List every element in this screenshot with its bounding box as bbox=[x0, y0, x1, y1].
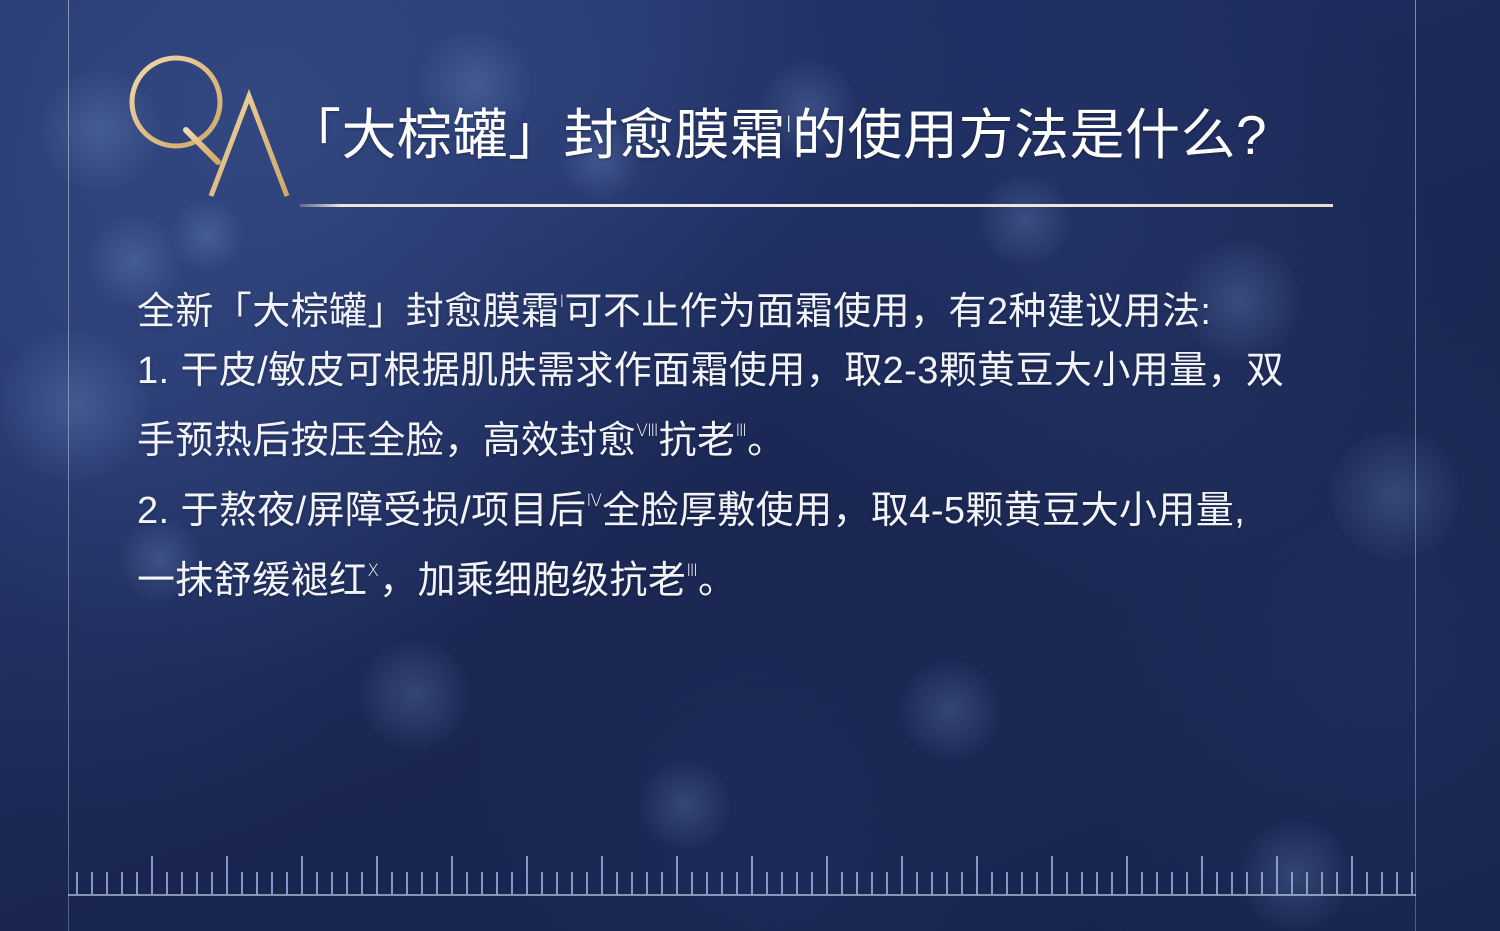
body-line-intro: 全新「大棕罐」封愈膜霜Ⅰ可不止作为面霜使用，有2种建议用法: bbox=[137, 272, 1387, 342]
ruler-tick-minor bbox=[271, 872, 273, 894]
ruler-tick-major bbox=[601, 856, 603, 894]
ruler-tick-minor bbox=[616, 872, 618, 894]
ruler-tick-minor bbox=[436, 872, 438, 894]
ruler-tick-minor bbox=[766, 872, 768, 894]
ruler-tick-minor bbox=[931, 872, 933, 894]
ruler-tick-minor bbox=[871, 872, 873, 894]
ruler-tick-minor bbox=[736, 872, 738, 894]
ruler-tick-minor bbox=[631, 872, 633, 894]
ruler-tick-minor bbox=[211, 872, 213, 894]
ruler-tick-minor bbox=[706, 872, 708, 894]
body-text: ，加乘细胞级抗老 bbox=[379, 560, 686, 602]
ruler-tick-minor bbox=[1006, 872, 1008, 894]
ruler-tick-minor bbox=[181, 872, 183, 894]
ruler-tick-minor bbox=[1321, 872, 1323, 894]
qa-monogram-icon bbox=[118, 48, 298, 198]
page-title-prefix: 「大棕罐」封愈膜霜 bbox=[286, 104, 786, 166]
ruler-tick-minor bbox=[76, 872, 78, 894]
ruler-tick-major bbox=[376, 856, 378, 894]
ruler-tick-minor bbox=[121, 872, 123, 894]
ruler-tick-minor bbox=[1081, 872, 1083, 894]
body-text: 全脸厚敷使用，取4-5颗黄豆大小用量, bbox=[602, 490, 1245, 532]
ruler-tick-minor bbox=[481, 872, 483, 894]
ruler-tick-minor bbox=[556, 872, 558, 894]
ruler-tick-minor bbox=[1066, 872, 1068, 894]
ruler-tick-major bbox=[1351, 856, 1353, 894]
ruler-tick-minor bbox=[961, 872, 963, 894]
ruler-tick-minor bbox=[106, 872, 108, 894]
ruler-tick-major bbox=[1051, 856, 1053, 894]
ruler-tick-minor bbox=[991, 872, 993, 894]
ruler-tick-minor bbox=[256, 872, 258, 894]
body-text: 一抹舒缓褪红 bbox=[137, 560, 367, 602]
ruler-tick-minor bbox=[1156, 872, 1158, 894]
body-text: 抗老 bbox=[659, 420, 736, 462]
footnote-superscript: Ⅷ bbox=[636, 421, 658, 440]
ruler-decoration bbox=[68, 848, 1416, 896]
footnote-superscript: Ⅳ bbox=[586, 491, 602, 510]
ruler-tick-minor bbox=[1306, 872, 1308, 894]
ruler-tick-minor bbox=[196, 872, 198, 894]
ruler-tick-major bbox=[1276, 856, 1278, 894]
footnote-superscript: Ⅲ bbox=[735, 421, 747, 440]
ruler-tick-minor bbox=[346, 872, 348, 894]
ruler-tick-minor bbox=[511, 872, 513, 894]
ruler-tick-major bbox=[451, 856, 453, 894]
ruler-tick-major bbox=[301, 856, 303, 894]
ruler-tick-major bbox=[226, 856, 228, 894]
ruler-tick-minor bbox=[1246, 872, 1248, 894]
ruler-tick-minor bbox=[1366, 872, 1368, 894]
ruler-tick-minor bbox=[646, 872, 648, 894]
bokeh-dot bbox=[900, 660, 1000, 760]
ruler-tick-minor bbox=[91, 872, 93, 894]
ruler-baseline bbox=[68, 894, 1416, 896]
ruler-tick-minor bbox=[1141, 872, 1143, 894]
bokeh-dot bbox=[640, 760, 730, 850]
ruler-tick-minor bbox=[1096, 872, 1098, 894]
page-title: 「大棕罐」封愈膜霜Ⅰ的使用方法是什么? bbox=[286, 108, 1267, 163]
ruler-tick-major bbox=[751, 856, 753, 894]
ruler-tick-minor bbox=[316, 872, 318, 894]
ruler-tick-minor bbox=[286, 872, 288, 894]
ruler-tick-minor bbox=[1411, 872, 1413, 894]
bokeh-dot bbox=[360, 640, 470, 750]
ruler-tick-minor bbox=[946, 872, 948, 894]
ruler-tick-minor bbox=[886, 872, 888, 894]
ruler-tick-major bbox=[1201, 856, 1203, 894]
ruler-tick-minor bbox=[811, 872, 813, 894]
ruler-tick-minor bbox=[1381, 872, 1383, 894]
ruler-tick-minor bbox=[406, 872, 408, 894]
ruler-tick-minor bbox=[841, 872, 843, 894]
ruler-tick-major bbox=[826, 856, 828, 894]
ruler-tick-minor bbox=[586, 872, 588, 894]
ruler-tick-minor bbox=[1396, 872, 1398, 894]
ruler-tick-minor bbox=[166, 872, 168, 894]
ruler-tick-major bbox=[526, 856, 528, 894]
qa-slide: 「大棕罐」封愈膜霜Ⅰ的使用方法是什么? 全新「大棕罐」封愈膜霜Ⅰ可不止作为面霜使… bbox=[0, 0, 1500, 931]
ruler-tick-minor bbox=[1291, 872, 1293, 894]
ruler-tick-minor bbox=[1036, 872, 1038, 894]
ruler-tick-minor bbox=[361, 872, 363, 894]
ruler-tick-major bbox=[1126, 856, 1128, 894]
bokeh-dot bbox=[0, 330, 150, 480]
footnote-superscript: Ⅹ bbox=[367, 561, 379, 580]
ruler-tick-minor bbox=[466, 872, 468, 894]
body-text: 。 bbox=[747, 420, 785, 462]
ruler-tick-minor bbox=[1171, 872, 1173, 894]
ruler-tick-minor bbox=[241, 872, 243, 894]
body-text: 1. 干皮/敏皮可根据肌肤需求作面霜使用，取2-3颗黄豆大小用量，双 bbox=[137, 350, 1284, 392]
ruler-tick-minor bbox=[1261, 872, 1263, 894]
ruler-tick-major bbox=[901, 856, 903, 894]
ruler-tick-minor bbox=[856, 872, 858, 894]
body-copy: 全新「大棕罐」封愈膜霜Ⅰ可不止作为面霜使用，有2种建议用法:1. 干皮/敏皮可根… bbox=[137, 272, 1387, 611]
ruler-tick-minor bbox=[691, 872, 693, 894]
body-text: 2. 于熬夜/屏障受损/项目后 bbox=[137, 490, 586, 532]
ruler-tick-minor bbox=[721, 872, 723, 894]
ruler-tick-minor bbox=[1336, 872, 1338, 894]
body-text: 可不止作为面霜使用，有2种建议用法: bbox=[564, 291, 1211, 333]
body-line-item-1-line-2: 手预热后按压全脸，高效封愈Ⅷ抗老Ⅲ。 bbox=[137, 401, 1387, 471]
ruler-tick-minor bbox=[661, 872, 663, 894]
ruler-tick-minor bbox=[1231, 872, 1233, 894]
ruler-tick-minor bbox=[1186, 872, 1188, 894]
footnote-superscript: Ⅲ bbox=[686, 561, 698, 580]
ruler-tick-minor bbox=[1216, 872, 1218, 894]
ruler-tick-minor bbox=[136, 872, 138, 894]
ruler-tick-minor bbox=[1111, 872, 1113, 894]
ruler-tick-minor bbox=[331, 872, 333, 894]
ruler-tick-minor bbox=[421, 872, 423, 894]
ruler-tick-minor bbox=[796, 872, 798, 894]
body-text: 。 bbox=[698, 560, 736, 602]
title-divider bbox=[300, 204, 1333, 207]
ruler-tick-minor bbox=[781, 872, 783, 894]
body-text: 手预热后按压全脸，高效封愈 bbox=[137, 420, 636, 462]
body-line-item-1-line-1: 1. 干皮/敏皮可根据肌肤需求作面霜使用，取2-3颗黄豆大小用量，双 bbox=[137, 342, 1387, 401]
ruler-tick-major bbox=[676, 856, 678, 894]
ruler-tick-minor bbox=[541, 872, 543, 894]
body-line-item-2-line-1: 2. 于熬夜/屏障受损/项目后Ⅳ全脸厚敷使用，取4-5颗黄豆大小用量, bbox=[137, 471, 1387, 541]
ruler-tick-minor bbox=[916, 872, 918, 894]
ruler-tick-minor bbox=[391, 872, 393, 894]
ruler-tick-minor bbox=[571, 872, 573, 894]
ruler-tick-minor bbox=[1021, 872, 1023, 894]
ruler-tick-major bbox=[976, 856, 978, 894]
header: 「大棕罐」封愈膜霜Ⅰ的使用方法是什么? bbox=[0, 0, 1500, 230]
ruler-tick-major bbox=[151, 856, 153, 894]
ruler-tick-minor bbox=[496, 872, 498, 894]
page-title-suffix: 的使用方法是什么? bbox=[792, 104, 1267, 166]
body-line-item-2-line-2: 一抹舒缓褪红Ⅹ，加乘细胞级抗老Ⅲ。 bbox=[137, 541, 1387, 611]
body-text: 全新「大棕罐」封愈膜霜 bbox=[137, 291, 559, 333]
